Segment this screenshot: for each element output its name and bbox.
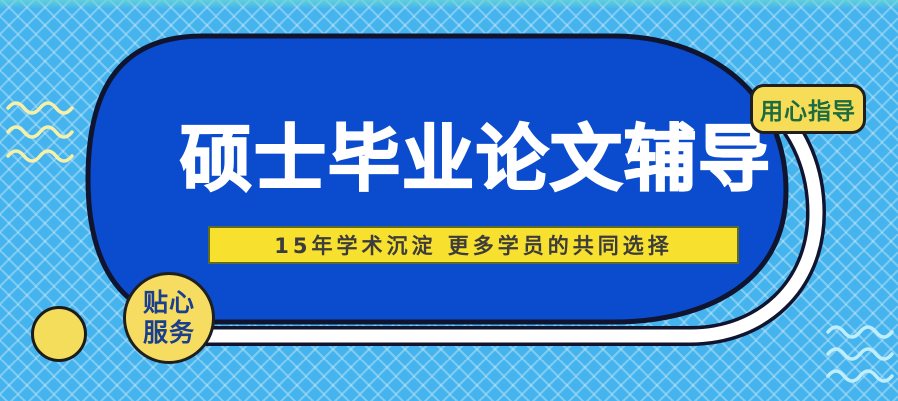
badge-bottom-left-line1: 贴心 <box>143 289 195 317</box>
badge-bottom-left: 贴心 服务 <box>123 272 215 364</box>
badge-bottom-left-line2: 服务 <box>143 319 195 347</box>
page-title: 硕士毕业论文辅导 <box>176 118 776 200</box>
subtitle-bar: 15年学术沉淀 更多学员的共同选择 <box>208 226 739 264</box>
badge-top-right: 用心指导 <box>750 84 866 134</box>
subtitle-text: 15年学术沉淀 更多学员的共同选择 <box>274 230 673 260</box>
promo-banner: 硕士毕业论文辅导 15年学术沉淀 更多学员的共同选择 用心指导 贴心 服务 <box>0 0 898 401</box>
badge-top-right-label: 用心指导 <box>760 92 856 126</box>
